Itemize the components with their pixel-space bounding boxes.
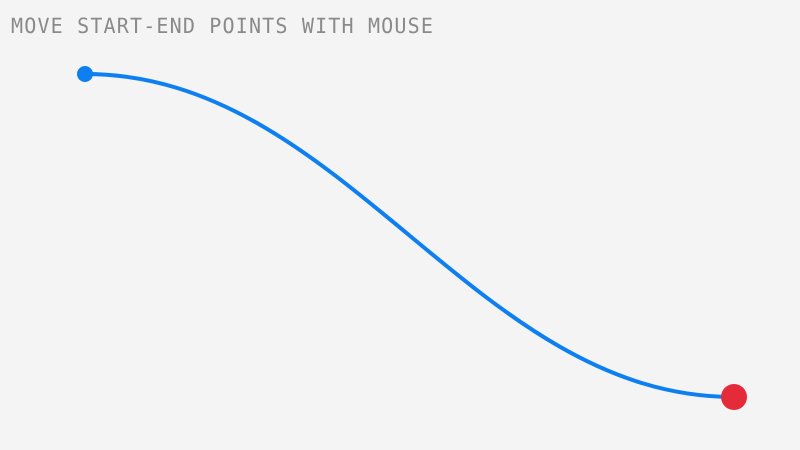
bezier-curve-path — [85, 74, 734, 397]
end-point-handle[interactable] — [721, 384, 747, 410]
bezier-canvas[interactable] — [0, 0, 800, 450]
canvas-stage: MOVE START-END POINTS WITH MOUSE — [0, 0, 800, 450]
start-point-handle[interactable] — [77, 66, 93, 82]
page-title: MOVE START-END POINTS WITH MOUSE — [11, 14, 434, 38]
